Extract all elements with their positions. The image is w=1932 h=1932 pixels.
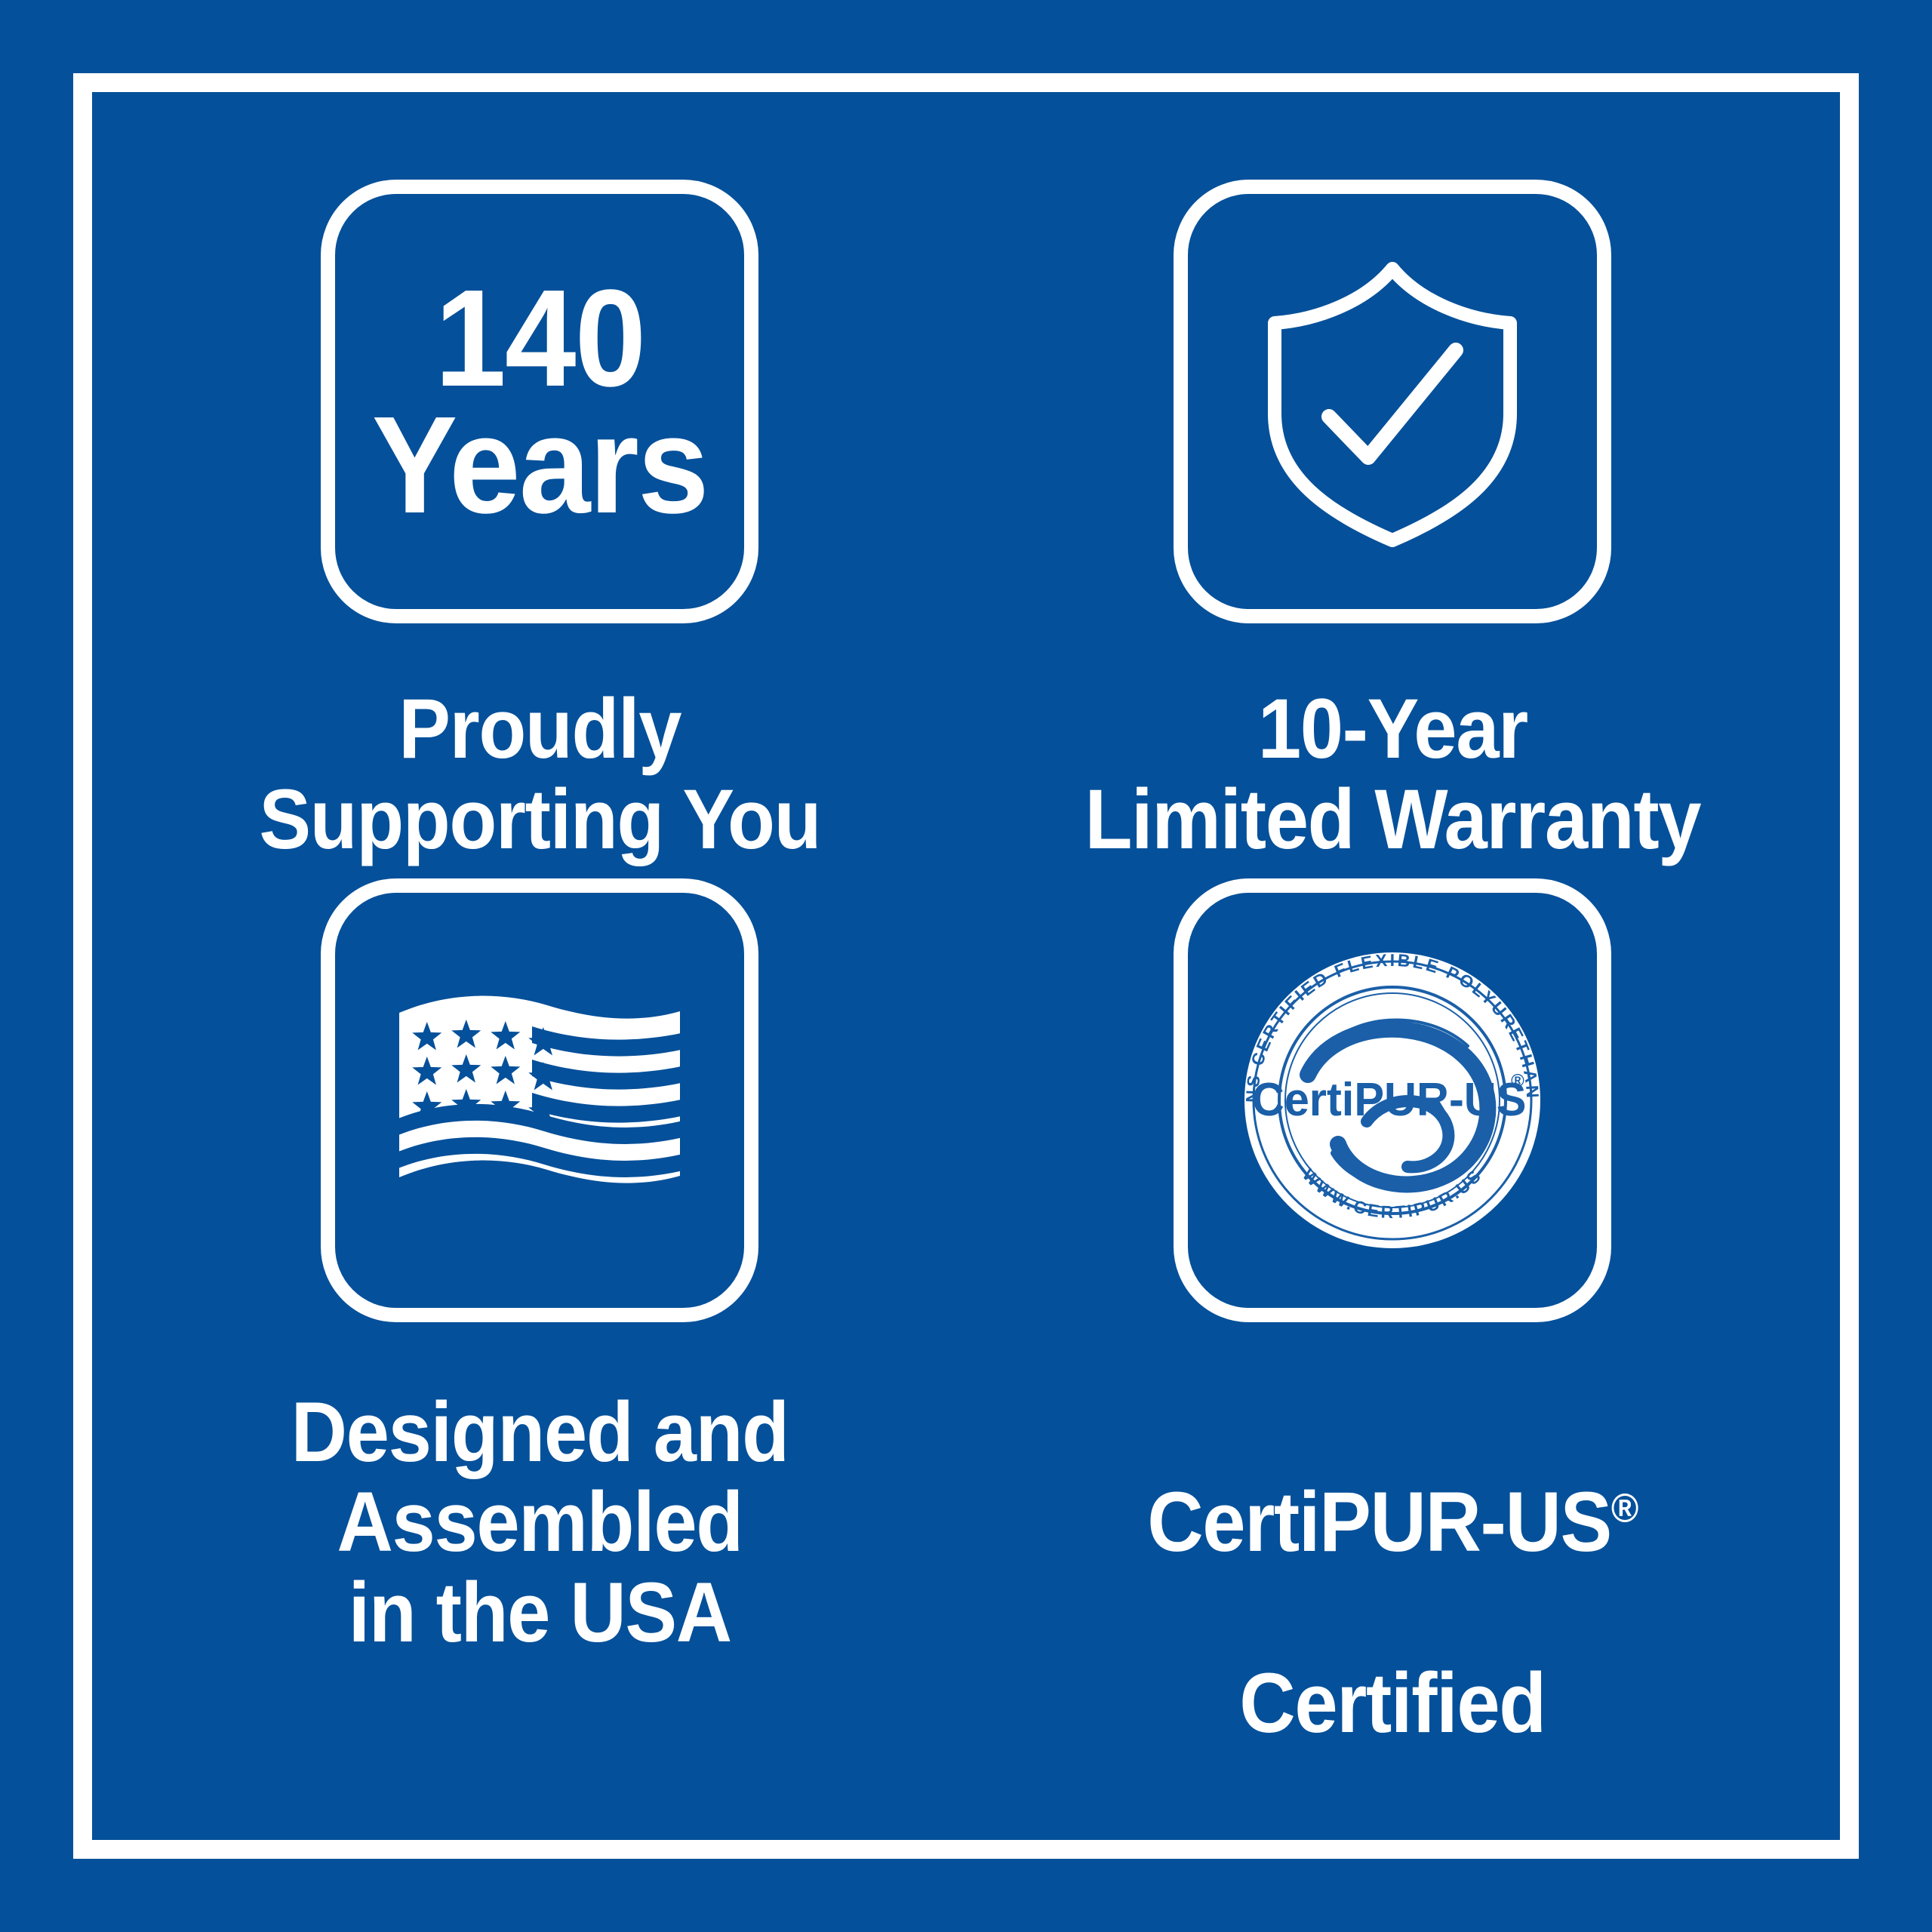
feature-cell-certipur: CONTAINS CERTIFIED FLEXIBLE POLYURETHANE… — [966, 865, 1819, 1839]
registered-mark-icon: ® — [1611, 1486, 1638, 1531]
shield-check-icon — [1241, 251, 1543, 552]
caption-limited-warranty: 10-Year Limited Warranty — [1084, 684, 1700, 865]
icon-frame-usa-flag — [321, 878, 758, 1322]
caption-certipur-wordmark: CertiPUR-US — [1147, 1475, 1611, 1569]
feature-cell-made-in-usa: Designed and Assembled in the USA — [113, 865, 966, 1839]
icon-frame-years: 140 Years — [321, 180, 758, 623]
caption-certipur-line2: Certified — [1147, 1658, 1638, 1749]
usa-flag-icon — [389, 987, 691, 1214]
140-years-text-icon: 140 Years — [371, 275, 707, 529]
years-number: 140 — [371, 275, 707, 401]
seal-wordmark: CertiPUR-US — [1252, 1073, 1527, 1125]
feature-cell-limited-warranty: 10-Year Limited Warranty — [966, 113, 1819, 865]
seal-registered-mark: ® — [1511, 1071, 1524, 1091]
feature-cell-years-in-business: 140 Years Proudly Supporting You — [113, 113, 966, 865]
caption-years-in-business: Proudly Supporting You — [259, 684, 820, 865]
certipur-us-seal-icon: CONTAINS CERTIFIED FLEXIBLE POLYURETHANE… — [1219, 927, 1566, 1274]
poster-root: 140 Years Proudly Supporting You 10-Year… — [0, 0, 1932, 1932]
years-word: Years — [371, 401, 707, 528]
icon-frame-warranty — [1174, 180, 1611, 623]
caption-certipur: CertiPUR-US® Certified — [1147, 1387, 1638, 1839]
icon-frame-certipur: CONTAINS CERTIFIED FLEXIBLE POLYURETHANE… — [1174, 878, 1611, 1322]
caption-certipur-line1: CertiPUR-US® — [1147, 1477, 1638, 1567]
feature-grid: 140 Years Proudly Supporting You 10-Year… — [113, 113, 1819, 1819]
caption-made-in-usa: Designed and Assembled in the USA — [291, 1387, 788, 1658]
